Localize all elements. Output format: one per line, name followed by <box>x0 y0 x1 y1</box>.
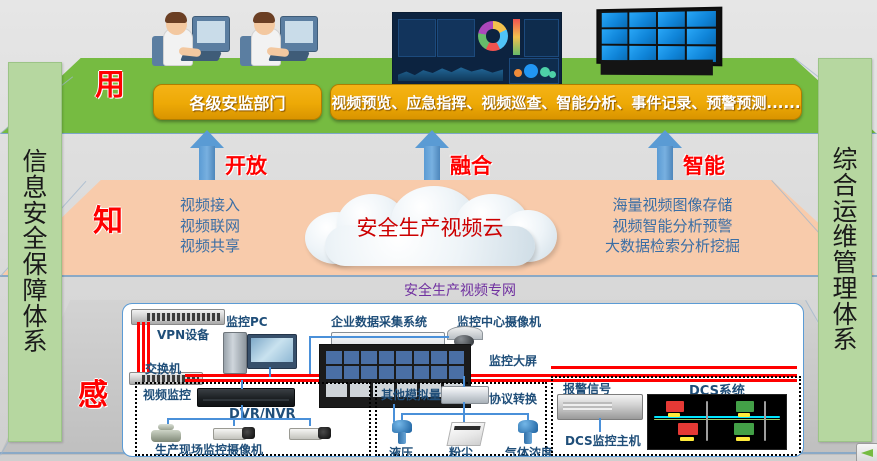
network-topology-panel: VPN设备 交换机 监控PC 企业数据采集系统 监控中心摄像机 <box>122 303 804 457</box>
blue-link-dcs-host <box>599 418 601 432</box>
left-panel-c1: 信 <box>22 149 47 175</box>
dust-sensor-image <box>446 422 485 446</box>
dcs-tag-4 <box>736 437 750 441</box>
control-room-video-wall <box>326 351 464 379</box>
vpn-device-image <box>131 309 225 325</box>
cloud-right-line-3: 大数据检索分析挖掘 <box>555 236 790 257</box>
video-wall-base <box>601 59 713 75</box>
dcs-pipe-v1 <box>706 401 708 441</box>
left-panel-c6: 障 <box>22 278 47 304</box>
video-wall-grid <box>602 11 717 62</box>
right-panel-c1: 综 <box>832 147 857 173</box>
pc-tower-image <box>223 332 247 374</box>
right-panel-c2: 合 <box>832 173 857 199</box>
person-hair <box>253 12 275 23</box>
arrow-up-intelligent <box>648 130 682 180</box>
left-panel-c5: 保 <box>22 252 47 278</box>
dcs-tag-1 <box>668 413 680 417</box>
green-arrow-icon <box>861 449 873 457</box>
camera-lens <box>318 427 331 438</box>
dcs-pipe-h2 <box>654 419 780 420</box>
dcs-unit-red-2 <box>678 423 698 435</box>
arrow-shaft <box>657 146 673 180</box>
arrow-label-fusion: 融合 <box>450 150 492 180</box>
arrow-up-fusion <box>415 130 449 180</box>
blue-link-proto-up <box>463 376 465 387</box>
cloud-capabilities-left: 视频接入 视频联网 视频共享 <box>130 195 290 257</box>
red-link-vertical <box>137 322 140 376</box>
right-panel-c6: 理 <box>832 276 857 302</box>
person-hair <box>165 12 187 23</box>
dash-scatter <box>524 19 559 57</box>
monitor-shape <box>192 16 230 52</box>
dvr-front-strip <box>203 399 289 401</box>
label-monitor-pc: 监控PC <box>226 313 268 330</box>
camera-body <box>213 428 246 440</box>
sensor-stem <box>524 432 532 444</box>
label-sensor-dust: 粉尘 <box>449 444 473 457</box>
bullet-camera-image-1 <box>213 425 255 442</box>
stage-label-sense: 感 <box>78 370 108 414</box>
sensor-stem <box>398 432 406 444</box>
left-panel-c2: 息 <box>22 175 47 201</box>
protocol-converter-image <box>441 386 489 404</box>
monitor-shape <box>280 16 318 52</box>
clipart-person-at-computer-2 <box>240 12 318 70</box>
right-panel-c5: 管 <box>832 250 857 276</box>
label-protocol-convert: 协议转换 <box>489 390 537 407</box>
left-panel-c8: 系 <box>22 329 47 355</box>
corner-tab-icon[interactable] <box>856 443 877 461</box>
dash-area-chart <box>398 60 503 81</box>
arrow-label-open: 开放 <box>225 150 267 180</box>
red-backbone-dcs <box>551 366 797 369</box>
blue-link-dvr-down <box>241 405 243 419</box>
cloud-left-line-1: 视频接入 <box>130 195 290 216</box>
blue-link-sensor-bus <box>401 413 529 415</box>
blue-link-sensor-2 <box>463 413 465 422</box>
diagram-canvas: 信 息 安 全 保 障 体 系 综 合 运 维 管 理 体 系 用 知 感 各级… <box>0 0 877 461</box>
label-private-video-network: 安全生产视频专网 <box>355 280 565 300</box>
arrow-up-open <box>190 130 224 180</box>
blue-link-camera-h <box>309 336 311 374</box>
right-panel-c4: 维 <box>832 224 857 250</box>
stage-label-use: 用 <box>95 60 125 104</box>
dcs-host-image <box>557 394 643 420</box>
sensor-bar <box>453 426 481 430</box>
arrow-label-intelligent: 智能 <box>683 150 725 180</box>
dvr-device-image <box>197 388 295 407</box>
camera-lens <box>242 427 255 438</box>
label-sensor-gas: 气体浓度 <box>505 444 553 457</box>
cloud-right-line-1: 海量视频图像存储 <box>555 195 790 216</box>
cloud-left-line-2: 视频联网 <box>130 216 290 237</box>
arrow-shaft <box>199 146 215 180</box>
label-data-collection-system: 企业数据采集系统 <box>331 313 427 330</box>
device-ports <box>147 313 221 321</box>
dash-table-right <box>437 19 475 57</box>
right-panel-c7: 体 <box>832 302 857 328</box>
box-safety-supervision-departments[interactable]: 各级安监部门 <box>153 84 322 120</box>
stage-label-know: 知 <box>93 196 123 240</box>
right-vertical-panel-operations-management: 综 合 运 维 管 理 体 系 <box>818 58 872 442</box>
dash-bubble-1 <box>514 69 522 77</box>
box-application-functions[interactable]: 视频预览、应急指挥、视频巡查、智能分析、事件记录、预警预测...... <box>330 84 802 120</box>
video-wall-image <box>592 8 717 76</box>
dcs-tag-3 <box>680 437 694 441</box>
gas-sensor-image <box>515 420 541 444</box>
left-panel-c3: 安 <box>22 201 47 227</box>
label-video-surveillance: 视频监控 <box>143 386 191 403</box>
dcs-unit-green-1 <box>736 401 754 412</box>
left-panel-c4: 全 <box>22 226 47 252</box>
label-dcs-host: DCS监控主机 <box>565 432 641 449</box>
bullet-camera-image-2 <box>289 425 331 442</box>
dcs-tag-2 <box>738 413 750 417</box>
label-other-analog: 其他模拟量 <box>381 386 441 403</box>
cloud-capabilities-right: 海量视频图像存储 视频智能分析预警 大数据检索分析挖掘 <box>555 195 790 257</box>
dcs-pipe-v2 <box>764 401 766 441</box>
camera-body <box>289 428 322 440</box>
dcs-unit-red-1 <box>666 401 684 412</box>
label-big-screen: 监控大屏 <box>489 352 537 369</box>
label-switch: 交换机 <box>145 360 181 377</box>
arrow-shaft <box>424 146 440 180</box>
right-panel-c8: 系 <box>832 327 857 353</box>
cloud-right-line-2: 视频智能分析预警 <box>555 216 790 237</box>
cloud-shape: 安全生产视频云 <box>295 186 565 268</box>
blue-link-pc <box>269 367 271 377</box>
dash-donut-chart <box>478 21 508 51</box>
video-wall-frame <box>596 7 722 67</box>
analytics-dashboard-image <box>392 12 562 86</box>
dash-gauge <box>513 19 520 55</box>
dash-bubble-4 <box>549 71 556 78</box>
left-vertical-panel-information-security: 信 息 安 全 保 障 体 系 <box>8 62 62 442</box>
dcs-unit-green-2 <box>734 423 754 435</box>
label-vpn-device: VPN设备 <box>157 326 209 343</box>
label-sensor-hydraulic: 液压 <box>389 444 413 457</box>
label-site-cameras: 生产现场监控摄像机 <box>155 441 263 457</box>
pc-monitor-image <box>247 334 297 369</box>
hydraulic-sensor-image <box>389 420 415 444</box>
cloud-left-line-3: 视频共享 <box>130 236 290 257</box>
dash-bubble-2 <box>524 64 538 78</box>
dcs-scada-screen-image <box>647 394 787 450</box>
clipart-person-at-computer-1 <box>152 12 230 70</box>
dash-table-left <box>398 19 436 57</box>
blue-link-dvr-bus <box>167 418 311 420</box>
blue-link-camera-v <box>309 336 449 338</box>
right-panel-c3: 运 <box>832 199 857 225</box>
left-panel-c7: 体 <box>22 304 47 330</box>
dcs-host-vents <box>563 402 612 412</box>
blue-link-dvr-up <box>241 380 243 389</box>
cloud-label-safety-video-cloud: 安全生产视频云 <box>295 212 565 242</box>
pc-screen <box>251 338 293 362</box>
